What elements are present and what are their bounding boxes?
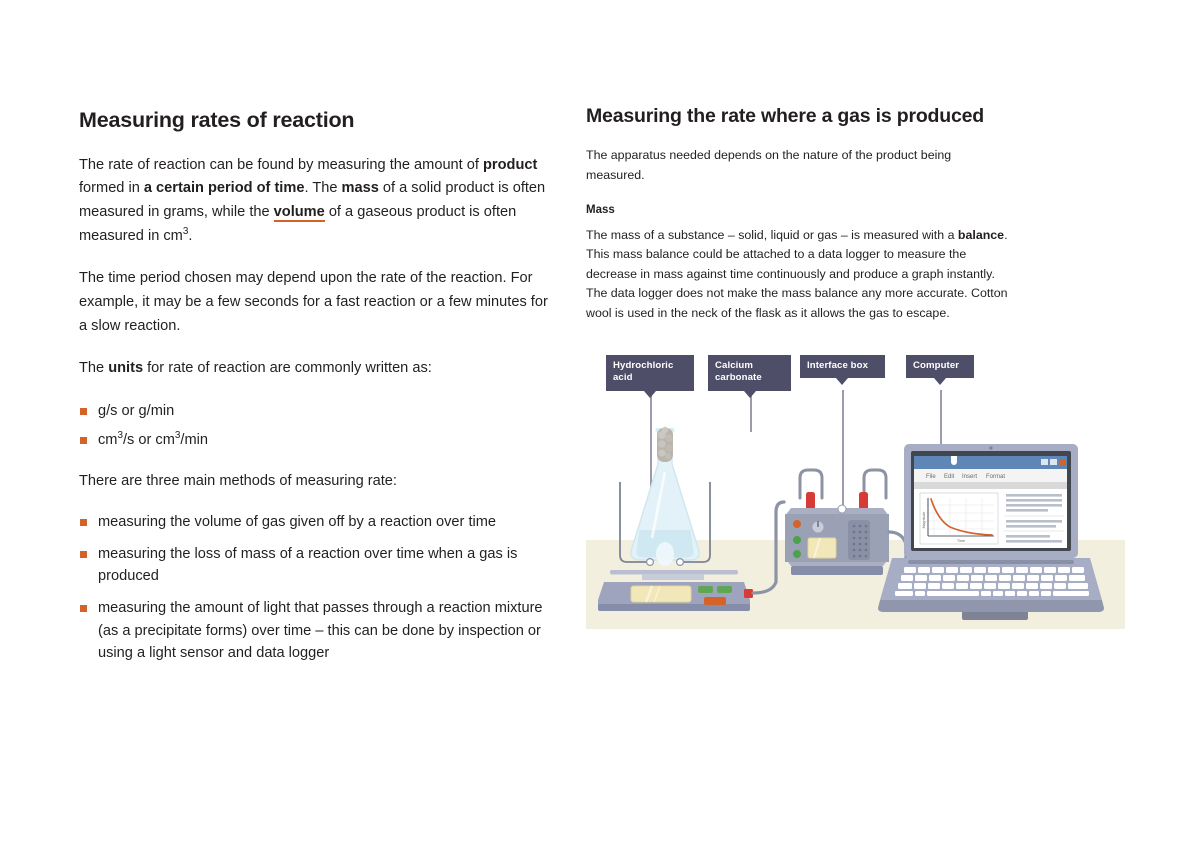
callout-line-1: Hydrochloric [613,360,687,372]
text-run: for rate of reaction are commonly writte… [143,360,432,376]
svg-text:Time: Time [957,539,965,543]
callout-pointer [744,391,756,398]
subheading-mass: Mass [586,204,1126,216]
mass-balance [598,570,753,611]
text-run: cm [98,432,117,448]
interface-led-red [793,520,801,528]
callout-line-1: Calcium [715,360,784,372]
laptop: File Edit Insert Format [878,444,1104,620]
methods-list: measuring the volume of gas given off by… [79,511,557,664]
interface-led-green-2 [793,550,801,558]
bold-period-of-time: a certain period of time [144,180,305,196]
laptop-screen: File Edit Insert Format [914,454,1067,548]
bold-product: product [483,157,537,173]
left-column: Measuring rates of reaction The rate of … [79,108,557,683]
bold-mass: mass [342,180,379,196]
list-item: measuring the loss of mass of a reaction… [79,543,557,587]
apparatus-diagram: File Edit Insert Format [586,352,1125,629]
interface-display [808,538,836,558]
callout-line-2: carbonate [715,372,784,384]
paragraph-mass-balance: The mass of a substance – solid, liquid … [586,226,1016,324]
paragraph-time-period: The time period chosen may depend upon t… [79,267,557,338]
page-title: Measuring rates of reaction [79,108,557,134]
callout-line-1: Computer [913,360,967,372]
balance-display [631,586,691,602]
bold-units: units [108,360,143,376]
balance-button-tare [704,597,726,605]
interface-box [785,470,889,575]
svg-text:Format: Format [986,474,1005,480]
paragraph-rate-definition: The rate of reaction can be found by mea… [79,154,557,249]
interface-plug-right [859,492,868,510]
apparatus-illustration: File Edit Insert Format [586,352,1125,629]
balance-button-green-1 [698,586,713,593]
text-run: /s or cm [123,432,175,448]
callout-pointer [644,391,656,398]
glossary-link-volume[interactable]: volume [274,204,325,222]
text-run: . [188,228,192,244]
paragraph-units-intro: The units for rate of reaction are commo… [79,357,557,381]
callout-hydrochloric-acid: Hydrochloric acid [606,355,694,391]
bold-balance: balance [958,228,1004,242]
callout-calcium-carbonate: Calcium carbonate [708,355,791,391]
callout-pointer [836,378,848,385]
callout-computer: Computer [906,355,974,378]
text-run: . The [304,180,341,196]
balance-button-green-2 [717,586,732,593]
list-item: measuring the amount of light that passe… [79,597,557,664]
cotton-wool-plug [657,427,673,462]
svg-text:Insert: Insert [962,474,977,480]
cable-balance-to-interface [753,502,784,593]
interface-plug-left [806,492,815,510]
section-title-gas-produced: Measuring the rate where a gas is produc… [586,105,1126,128]
document-page: Measuring rates of reaction The rate of … [0,0,1200,849]
callout-line-2: acid [613,372,687,384]
interface-led-green-1 [793,536,801,544]
text-run: formed in [79,180,144,196]
unit-text: g/s or g/min [98,403,174,419]
paragraph-three-methods: There are three main methods of measurin… [79,470,557,494]
list-item: g/s or g/min [79,400,557,422]
text-run: The rate of reaction can be found by mea… [79,157,483,173]
text-run: The [79,360,108,376]
callout-pointer [934,378,946,385]
callout-line-1: Interface box [807,360,878,372]
text-run: /min [180,432,208,448]
svg-text:Magnitude: Magnitude [922,512,926,529]
svg-text:File: File [926,474,936,480]
paragraph-apparatus-intro: The apparatus needed depends on the natu… [586,146,1006,185]
right-column: Measuring the rate where a gas is produc… [586,105,1126,336]
units-list: g/s or g/min cm3/s or cm3/min [79,400,557,451]
list-item: measuring the volume of gas given off by… [79,511,557,533]
list-item: cm3/s or cm3/min [79,429,557,451]
svg-text:Edit: Edit [944,474,955,480]
text-run: The mass of a substance – solid, liquid … [586,228,958,242]
callout-interface-box: Interface box [800,355,885,378]
